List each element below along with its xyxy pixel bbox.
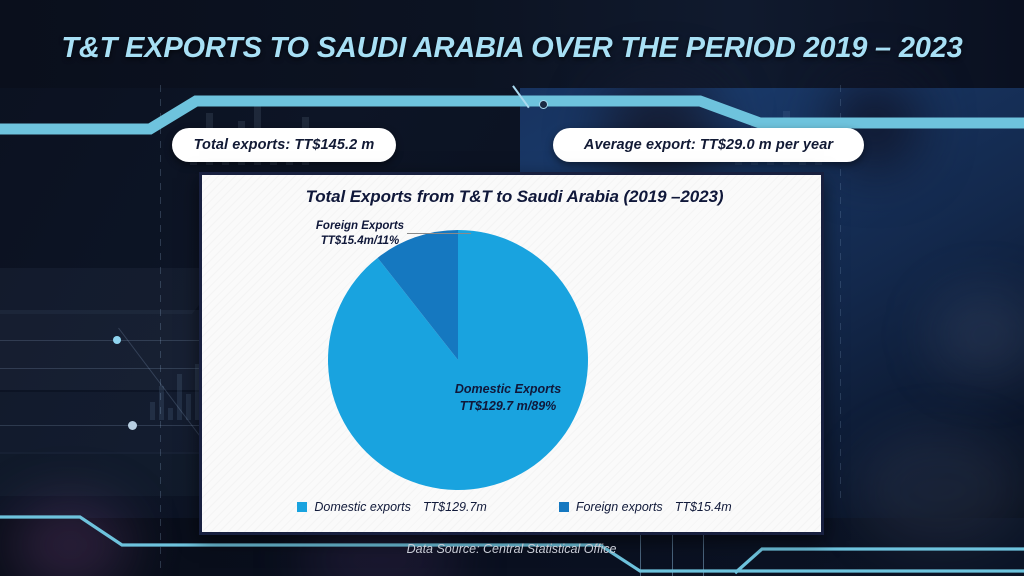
legend-label-domestic: Domestic exports (314, 500, 411, 514)
stat-pill-total-exports: Total exports: TT$145.2 m (172, 128, 396, 162)
legend-swatch-foreign-icon (559, 502, 569, 512)
accent-chevron-top (0, 95, 1024, 145)
callout-foreign-line2: TT$15.4m/11% (295, 234, 425, 249)
pie-chart (327, 229, 589, 491)
label-domestic-line2: TT$129.7 m/89% (408, 398, 608, 415)
pie-label-domestic: Domestic Exports TT$129.7 m/89% (408, 381, 608, 415)
pointer-connector-dot (539, 100, 548, 109)
callout-foreign-line1: Foreign Exports (295, 219, 425, 234)
legend-item-domestic[interactable]: Domestic exports TT$129.7m (297, 500, 486, 514)
data-source-caption: Data Source: Central Statistical Office (199, 542, 824, 556)
bg-node-dot-1 (113, 336, 121, 344)
legend-value-foreign: TT$15.4m (675, 500, 732, 514)
label-domestic-line1: Domestic Exports (408, 381, 608, 398)
legend-item-foreign[interactable]: Foreign exports TT$15.4m (559, 500, 732, 514)
chart-title: Total Exports from T&T to Saudi Arabia (… (202, 187, 827, 207)
chart-legend: Domestic exports TT$129.7m Foreign expor… (202, 500, 827, 514)
page-title: T&T EXPORTS TO SAUDI ARABIA OVER THE PER… (0, 32, 1024, 65)
legend-label-foreign: Foreign exports (576, 500, 663, 514)
legend-swatch-domestic-icon (297, 502, 307, 512)
legend-value-domestic: TT$129.7m (423, 500, 487, 514)
stat-pill-average-export: Average export: TT$29.0 m per year (553, 128, 864, 162)
pie-callout-foreign: Foreign Exports TT$15.4m/11% (295, 219, 425, 248)
bg-shape-1 (0, 268, 228, 314)
chart-panel: Total Exports from T&T to Saudi Arabia (… (199, 172, 824, 535)
bg-node-dot-2 (128, 421, 137, 430)
